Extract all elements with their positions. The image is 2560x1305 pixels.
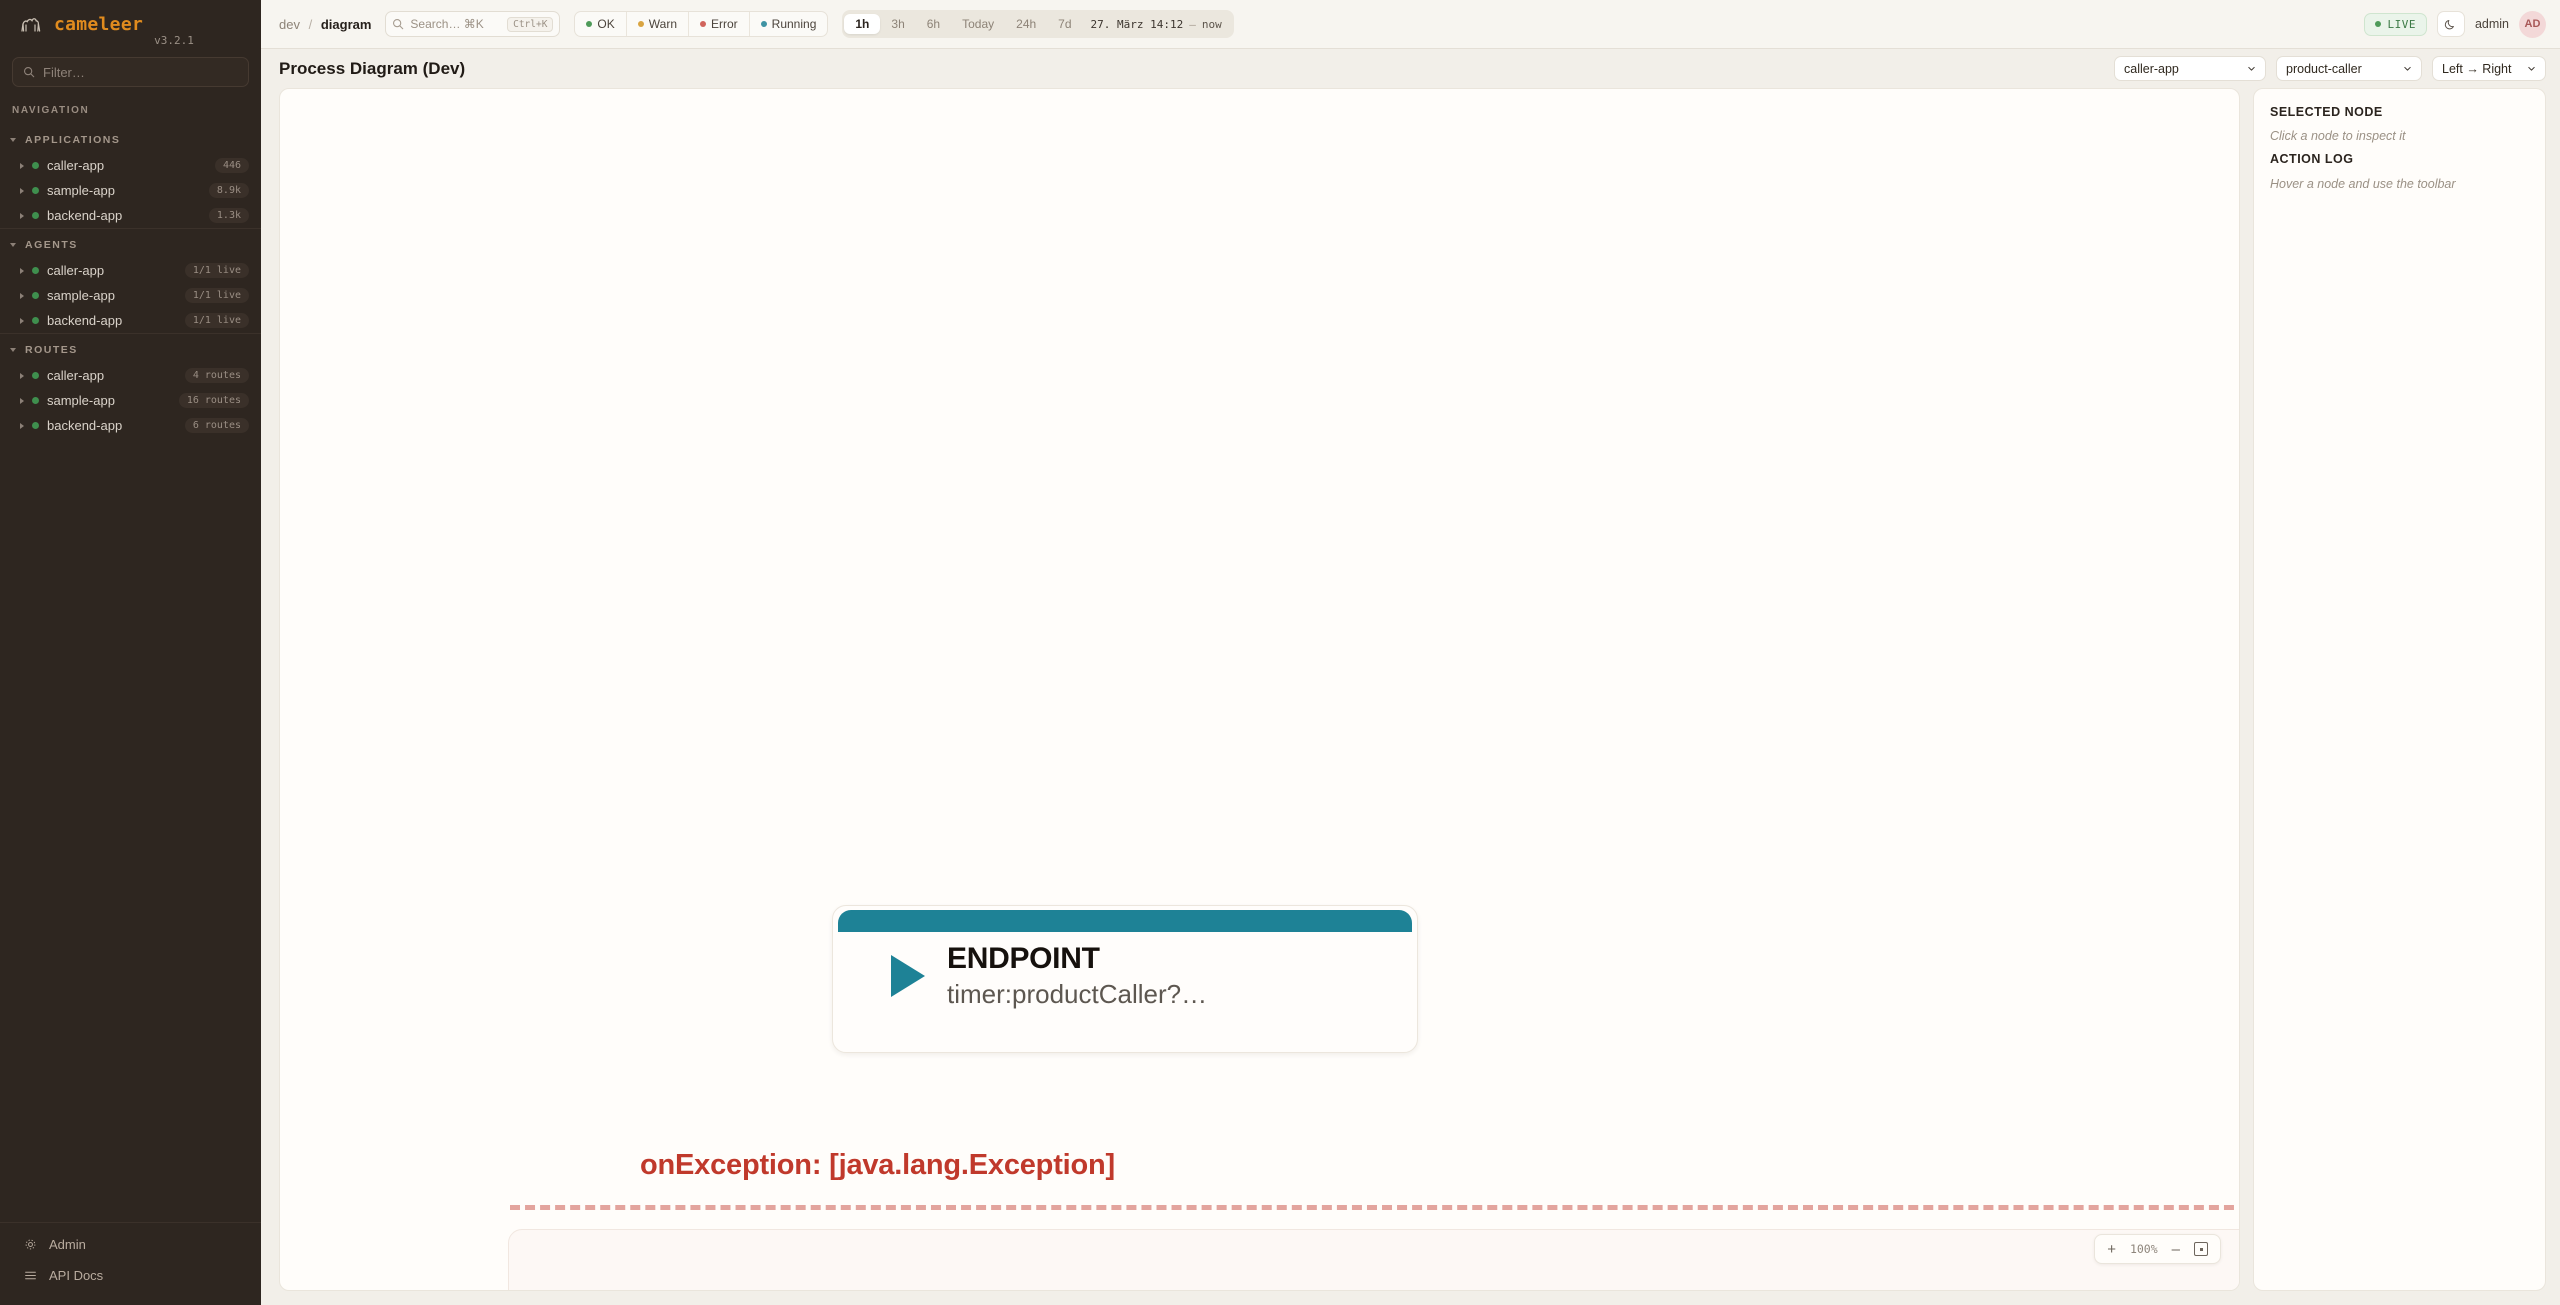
- sidebar-item-badge: 6 routes: [185, 418, 249, 433]
- group-header-routes[interactable]: ROUTES: [0, 334, 261, 363]
- zoom-controls: + 100% –: [2094, 1234, 2221, 1264]
- sidebar-item-badge: 1/1 live: [185, 288, 249, 303]
- sidebar-group-routes: ROUTES caller-app 4 routes sample-app 16…: [0, 333, 261, 438]
- breadcrumb-separator: /: [309, 17, 313, 32]
- chevron-right-icon: [20, 163, 24, 169]
- sidebar: cameleer v3.2.1 Filter… NAVIGATION APPLI…: [0, 0, 261, 1305]
- sidebar-item-label: caller-app: [47, 263, 177, 278]
- exception-handler-label: onException: [java.lang.Exception]: [640, 1149, 1115, 1182]
- topbar: dev / diagram Search… ⌘K Ctrl+K OK: [261, 0, 2560, 49]
- group-title: ROUTES: [25, 344, 78, 356]
- search-input[interactable]: Search… ⌘K Ctrl+K: [385, 11, 560, 37]
- status-chip-error[interactable]: Error: [689, 12, 750, 36]
- chevron-right-icon: [20, 423, 24, 429]
- sidebar-group-applications: APPLICATIONS caller-app 446 sample-app 8…: [0, 124, 261, 228]
- moon-icon: [2444, 18, 2457, 31]
- sidebar-group-agents: AGENTS caller-app 1/1 live sample-app 1/…: [0, 228, 261, 333]
- status-dot: [638, 21, 644, 27]
- status-chip-ok[interactable]: OK: [575, 12, 626, 36]
- sidebar-item-agent-backend-app[interactable]: backend-app 1/1 live: [0, 308, 261, 333]
- sidebar-item-routes-backend-app[interactable]: backend-app 6 routes: [0, 413, 261, 438]
- sidebar-item-caller-app[interactable]: caller-app 446: [0, 153, 261, 178]
- status-chip-label: OK: [597, 17, 614, 31]
- chevron-right-icon: [20, 373, 24, 379]
- status-dot: [32, 187, 39, 194]
- breadcrumb[interactable]: dev / diagram: [279, 17, 371, 32]
- sidebar-item-label: caller-app: [47, 158, 207, 173]
- chevron-right-icon: [20, 213, 24, 219]
- status-dot: [32, 212, 39, 219]
- status-chip-label: Warn: [649, 17, 677, 31]
- time-range-dash: —: [1189, 18, 1196, 31]
- sidebar-item-label: backend-app: [47, 418, 177, 433]
- sidebar-item-agent-sample-app[interactable]: sample-app 1/1 live: [0, 283, 261, 308]
- direction-select-value: Left → Right: [2442, 62, 2517, 76]
- sidebar-item-backend-app[interactable]: backend-app 1.3k: [0, 203, 261, 228]
- chevron-down-icon: [2247, 64, 2256, 73]
- zoom-level: 100%: [2130, 1242, 2158, 1256]
- diagram-node-endpoint[interactable]: ENDPOINT timer:productCaller?…: [832, 905, 1418, 1053]
- brand-name: cameleer: [54, 14, 143, 35]
- route-select-value: product-caller: [2286, 62, 2393, 76]
- time-button-7d[interactable]: 7d: [1047, 14, 1082, 34]
- sidebar-item-agent-caller-app[interactable]: caller-app 1/1 live: [0, 258, 261, 283]
- search-icon: [23, 66, 35, 78]
- status-dot: [586, 21, 592, 27]
- chevron-right-icon: [20, 293, 24, 299]
- chevron-down-icon: [10, 243, 16, 247]
- chevron-right-icon: [20, 268, 24, 274]
- status-dot: [2375, 21, 2381, 27]
- time-button-6h[interactable]: 6h: [916, 14, 951, 34]
- topbar-right: LIVE admin AD: [2364, 11, 2546, 38]
- sidebar-item-badge: 1.3k: [209, 208, 249, 223]
- status-dot: [32, 372, 39, 379]
- status-dot: [761, 21, 767, 27]
- chevron-right-icon: [20, 318, 24, 324]
- sidebar-item-label: backend-app: [47, 313, 177, 328]
- page-title: Process Diagram (Dev): [279, 59, 465, 79]
- sidebar-item-badge: 1/1 live: [185, 263, 249, 278]
- direction-select[interactable]: Left → Right: [2432, 56, 2546, 81]
- app-root: cameleer v3.2.1 Filter… NAVIGATION APPLI…: [0, 0, 2560, 1305]
- sidebar-item-label: sample-app: [47, 288, 177, 303]
- chevron-down-icon: [2527, 64, 2536, 73]
- exception-region: [508, 1229, 2240, 1291]
- status-chip-warn[interactable]: Warn: [627, 12, 689, 36]
- group-header-agents[interactable]: AGENTS: [0, 229, 261, 258]
- time-range-display[interactable]: 27. März 14:12 — now: [1083, 18, 1232, 31]
- sidebar-item-routes-caller-app[interactable]: caller-app 4 routes: [0, 363, 261, 388]
- status-dot: [700, 21, 706, 27]
- diagram-canvas[interactable]: ENDPOINT timer:productCaller?… onExcepti…: [279, 88, 2240, 1291]
- filter-input[interactable]: Filter…: [12, 57, 249, 87]
- sidebar-spacer: [0, 438, 261, 1222]
- status-chip-label: Running: [772, 17, 817, 31]
- search-shortcut-kbd: Ctrl+K: [507, 17, 553, 32]
- chevron-down-icon: [2403, 64, 2412, 73]
- zoom-out-button[interactable]: –: [2172, 1242, 2180, 1257]
- node-text: ENDPOINT timer:productCaller?…: [947, 942, 1207, 1010]
- time-range-selector: 1h 3h 6h Today 24h 7d 27. März 14:12 — n…: [842, 10, 1233, 38]
- camel-icon: [18, 13, 44, 37]
- time-range-start: 27. März 14:12: [1091, 18, 1184, 31]
- content-row: ENDPOINT timer:productCaller?… onExcepti…: [261, 88, 2560, 1305]
- time-button-24h[interactable]: 24h: [1005, 14, 1047, 34]
- avatar[interactable]: AD: [2519, 11, 2546, 38]
- selected-node-title: SELECTED NODE: [2270, 105, 2529, 119]
- sidebar-item-badge: 446: [215, 158, 249, 173]
- zoom-in-button[interactable]: +: [2107, 1242, 2116, 1257]
- route-select[interactable]: product-caller: [2276, 56, 2422, 81]
- navigation-label: NAVIGATION: [0, 87, 261, 124]
- sidebar-item-routes-sample-app[interactable]: sample-app 16 routes: [0, 388, 261, 413]
- application-select-value: caller-app: [2124, 62, 2237, 76]
- node-header-bar: [838, 910, 1412, 932]
- diagram-selectors: caller-app product-caller Left → Right: [2114, 56, 2546, 81]
- fit-dot: [2200, 1248, 2203, 1251]
- status-chip-running[interactable]: Running: [750, 12, 828, 36]
- inspector-panel: SELECTED NODE Click a node to inspect it…: [2253, 88, 2546, 1291]
- status-chips: OK Warn Error Running: [574, 11, 828, 37]
- sidebar-item-label: backend-app: [47, 208, 201, 223]
- play-icon: [891, 955, 925, 997]
- action-log-hint: Hover a node and use the toolbar: [2270, 177, 2529, 191]
- group-title: AGENTS: [25, 239, 78, 251]
- status-dot: [32, 422, 39, 429]
- sidebar-item-label: sample-app: [47, 393, 171, 408]
- search-icon: [392, 18, 404, 30]
- breadcrumb-root[interactable]: dev: [279, 17, 300, 32]
- action-log-title: ACTION LOG: [2270, 152, 2529, 166]
- status-dot: [32, 267, 39, 274]
- brand[interactable]: cameleer v3.2.1: [0, 0, 261, 49]
- status-dot: [32, 292, 39, 299]
- sidebar-item-badge: 8.9k: [209, 183, 249, 198]
- menu-icon: [24, 1269, 37, 1282]
- sidebar-item-sample-app[interactable]: sample-app 8.9k: [0, 178, 261, 203]
- brand-version: v3.2.1: [154, 34, 194, 49]
- sidebar-item-label: sample-app: [47, 183, 201, 198]
- live-label: LIVE: [2387, 18, 2416, 31]
- node-uri-label: timer:productCaller?…: [947, 979, 1207, 1010]
- live-indicator[interactable]: LIVE: [2364, 13, 2427, 36]
- node-kind-label: ENDPOINT: [947, 942, 1207, 977]
- breadcrumb-current: diagram: [321, 17, 372, 32]
- group-title: APPLICATIONS: [25, 134, 120, 146]
- sidebar-item-badge: 4 routes: [185, 368, 249, 383]
- sidebar-item-api-docs[interactable]: API Docs: [0, 1260, 261, 1291]
- main-area: dev / diagram Search… ⌘K Ctrl+K OK: [261, 0, 2560, 1305]
- group-header-applications[interactable]: APPLICATIONS: [0, 124, 261, 153]
- filter-wrap: Filter…: [0, 49, 261, 87]
- sidebar-footer-label: Admin: [49, 1237, 86, 1252]
- page-header: Process Diagram (Dev) caller-app product…: [261, 49, 2560, 88]
- status-dot: [32, 397, 39, 404]
- chevron-down-icon: [10, 138, 16, 142]
- time-button-1h[interactable]: 1h: [844, 14, 880, 34]
- application-select[interactable]: caller-app: [2114, 56, 2266, 81]
- sidebar-item-label: caller-app: [47, 368, 177, 383]
- exception-divider: [510, 1205, 2240, 1210]
- sidebar-item-badge: 1/1 live: [185, 313, 249, 328]
- status-dot: [32, 162, 39, 169]
- time-button-today[interactable]: Today: [951, 14, 1005, 34]
- search-placeholder: Search… ⌘K: [410, 17, 501, 31]
- node-body: ENDPOINT timer:productCaller?…: [833, 932, 1417, 1010]
- chevron-right-icon: [20, 398, 24, 404]
- status-chip-label: Error: [711, 17, 738, 31]
- sidebar-groups: APPLICATIONS caller-app 446 sample-app 8…: [0, 124, 261, 438]
- time-button-3h[interactable]: 3h: [880, 14, 915, 34]
- sidebar-footer: Admin API Docs: [0, 1222, 261, 1305]
- sidebar-item-admin[interactable]: Admin: [0, 1229, 261, 1260]
- gear-icon: [24, 1238, 37, 1251]
- sidebar-item-badge: 16 routes: [179, 393, 249, 408]
- filter-placeholder: Filter…: [43, 65, 85, 80]
- theme-toggle-button[interactable]: [2437, 11, 2465, 37]
- chevron-right-icon: [20, 188, 24, 194]
- sidebar-footer-label: API Docs: [49, 1268, 103, 1283]
- time-range-end: now: [1202, 18, 1222, 31]
- fit-to-screen-icon[interactable]: [2194, 1242, 2208, 1256]
- status-dot: [32, 317, 39, 324]
- selected-node-hint: Click a node to inspect it: [2270, 129, 2529, 143]
- user-name[interactable]: admin: [2475, 17, 2509, 31]
- chevron-down-icon: [10, 348, 16, 352]
